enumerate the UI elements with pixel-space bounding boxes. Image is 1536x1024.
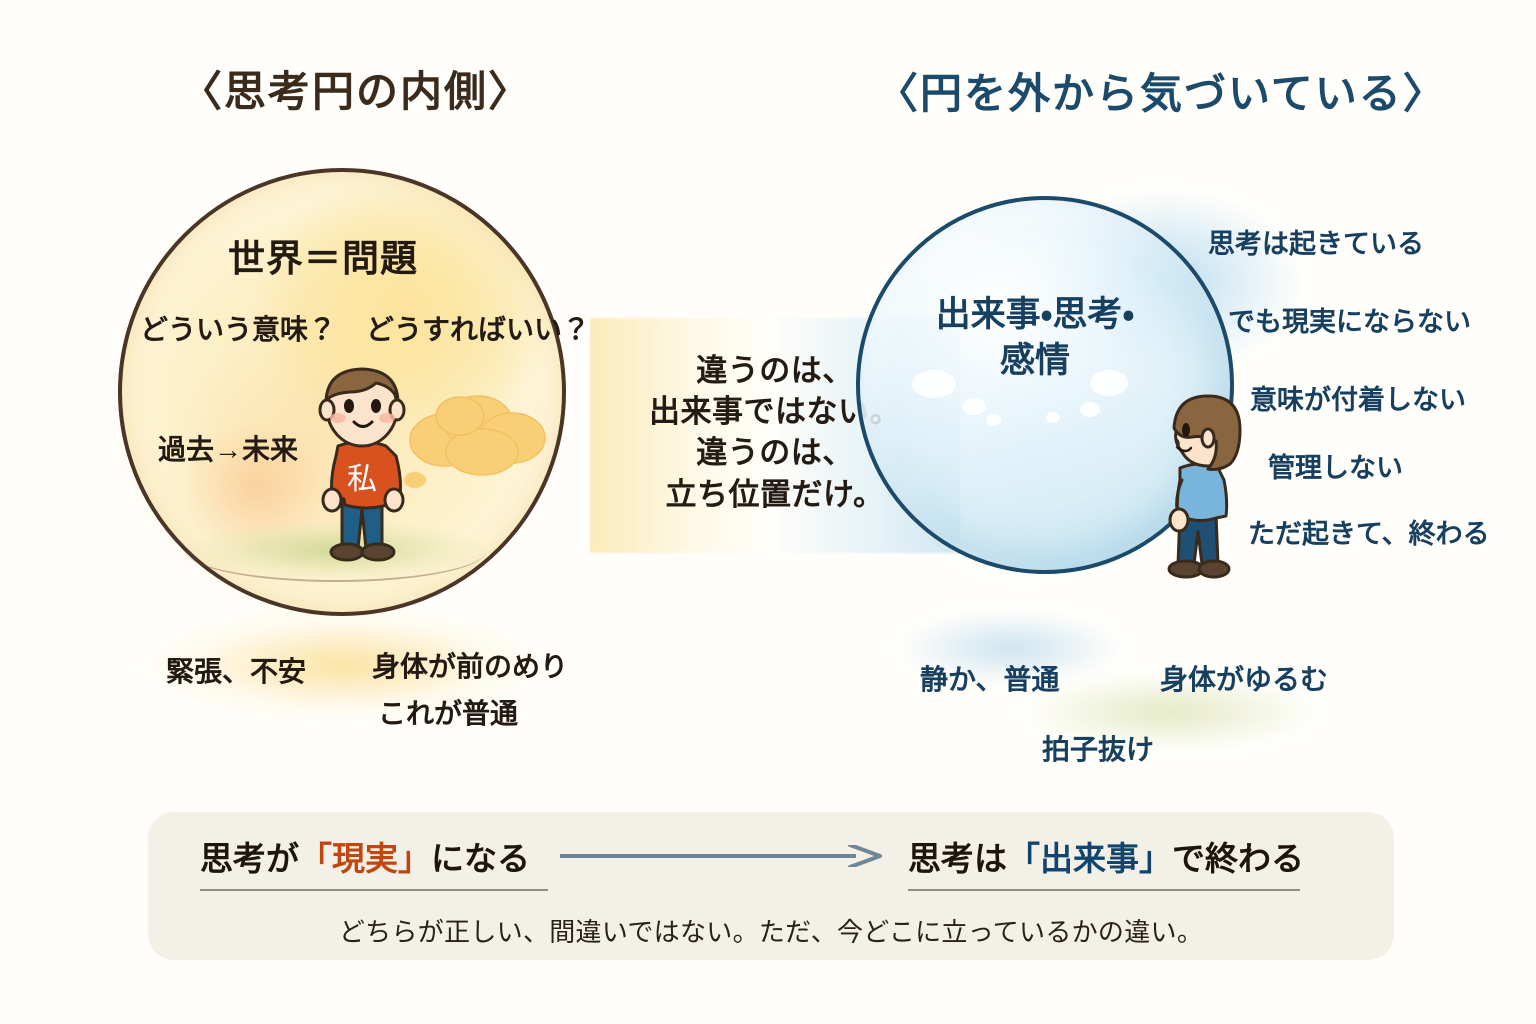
left-question-1: どういう意味？ [140, 308, 336, 348]
right-avatar [1146, 388, 1256, 588]
bubble-highlight-3 [986, 414, 1001, 426]
bubble-highlight-6 [1046, 412, 1060, 423]
right-below-label-1: 静か、普通 [920, 658, 1059, 698]
left-panel-title: 〈思考円の内側〉 [180, 58, 532, 119]
summary-left-accent: 「現実」 [299, 840, 431, 877]
right-below-label-3: 拍子抜け [1042, 728, 1154, 768]
right-list-item-1: 思考は起きている [1208, 222, 1424, 261]
left-below-label-1: 緊張、不安 [166, 650, 306, 690]
summary-right-prefix: 思考は [908, 840, 1007, 877]
bubble-highlight-2 [962, 398, 986, 415]
summary-left-suffix: になる [431, 840, 530, 877]
summary-left-prefix: 思考が [200, 840, 299, 877]
right-list-item-5: ただ起きて、終わる [1248, 512, 1490, 551]
summary-right-accent: 「出来事」 [1007, 840, 1172, 877]
right-list-item-3: 意味が付着しない [1250, 378, 1466, 417]
right-core-label: 出来事・思考・ 感情 [920, 292, 1150, 383]
right-core-label-line-1: 出来事・思考・ [920, 292, 1150, 338]
right-list-item-2: でも現実にならない [1228, 300, 1471, 339]
summary-right-suffix: で終わる [1172, 840, 1304, 877]
right-arrow-icon [560, 845, 884, 867]
bubble-highlight-5 [1080, 402, 1100, 417]
left-below-label-3: これが普通 [378, 692, 518, 732]
left-below-label-2: 身体が前のめり [372, 645, 568, 685]
diagram-canvas: 〈思考円の内側〉 〈円を外から気づいている〉 世界＝問題 どういう意味？ どうす… [0, 0, 1536, 1024]
right-panel-title: 〈円を外から気づいている〉 [876, 60, 1447, 121]
left-question-2: どうすればいい？ [366, 308, 590, 348]
right-core-label-line-2: 感情 [920, 338, 1150, 384]
left-avatar: 私 [302, 360, 432, 570]
left-core-label: 世界＝問題 [228, 228, 418, 282]
summary-right-phrase: 思考は「出来事」で終わる [908, 832, 1300, 891]
avatar-shirt-kanji: 私 [347, 463, 377, 496]
left-time-arrow-label: 過去→未来 [158, 428, 298, 468]
right-list-item-4: 管理しない [1268, 446, 1403, 485]
right-below-label-2: 身体がゆるむ [1160, 658, 1328, 698]
summary-note: どちらが正しい、間違いではない。ただ、今どこに立っているかの違い。 [148, 912, 1394, 949]
summary-left-phrase: 思考が「現実」になる [200, 832, 548, 891]
